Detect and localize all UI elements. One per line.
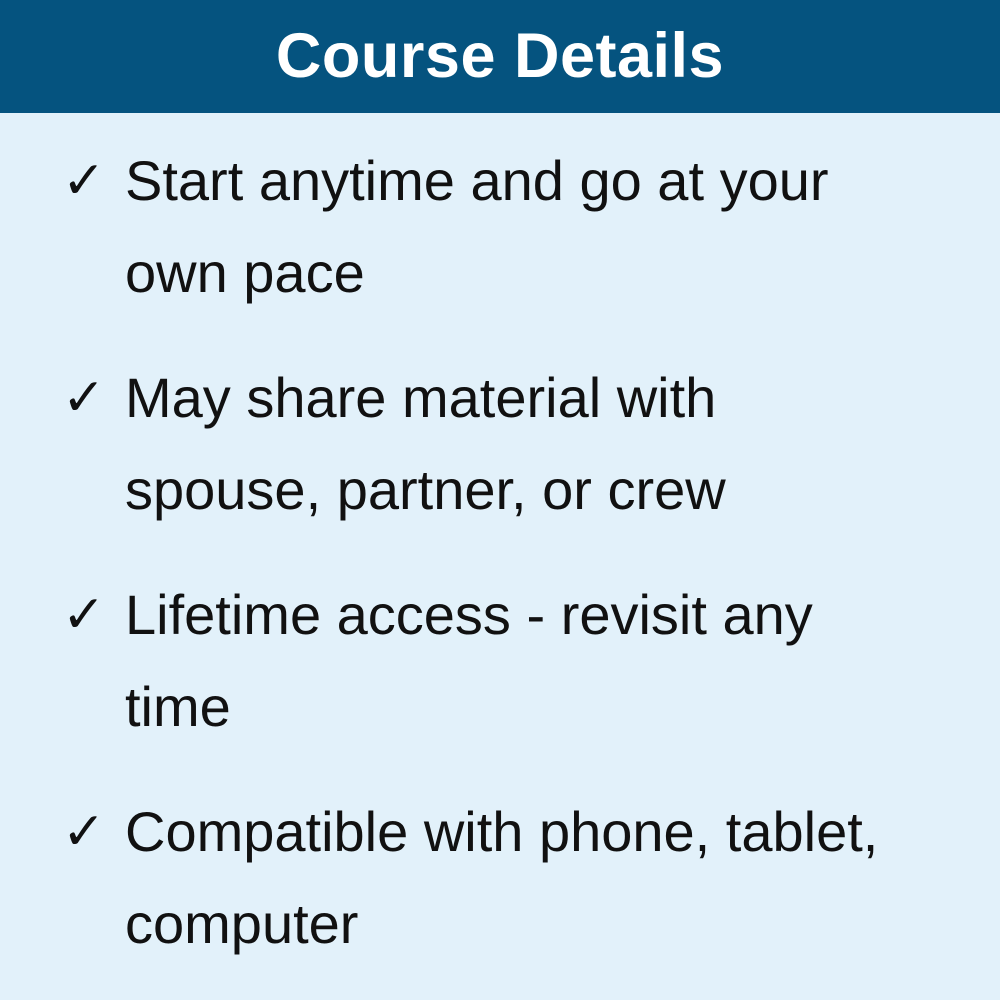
list-item: ✓ Lifetime access - revisit any time bbox=[62, 569, 922, 753]
checkmark-icon: ✓ bbox=[62, 569, 125, 661]
list-item: ✓ Start anytime and go at your own pace bbox=[62, 135, 922, 319]
list-item-label: Lifetime access - revisit any time bbox=[125, 569, 922, 753]
page-title: Course Details bbox=[276, 25, 724, 88]
checkmark-icon: ✓ bbox=[62, 352, 125, 444]
list-item: ✓ May share material with spouse, partne… bbox=[62, 352, 922, 536]
course-details-card: Course Details ✓ Start anytime and go at… bbox=[0, 0, 1000, 1000]
card-header: Course Details bbox=[0, 0, 1000, 113]
checkmark-icon: ✓ bbox=[62, 135, 125, 227]
list-item: ✓ Compatible with phone, tablet, compute… bbox=[62, 786, 922, 970]
list-item-label: Compatible with phone, tablet, computer bbox=[125, 786, 922, 970]
feature-list: ✓ Start anytime and go at your own pace … bbox=[62, 135, 922, 970]
checkmark-icon: ✓ bbox=[62, 786, 125, 878]
card-body: ✓ Start anytime and go at your own pace … bbox=[0, 113, 1000, 1000]
list-item-label: Start anytime and go at your own pace bbox=[125, 135, 922, 319]
list-item-label: May share material with spouse, partner,… bbox=[125, 352, 922, 536]
